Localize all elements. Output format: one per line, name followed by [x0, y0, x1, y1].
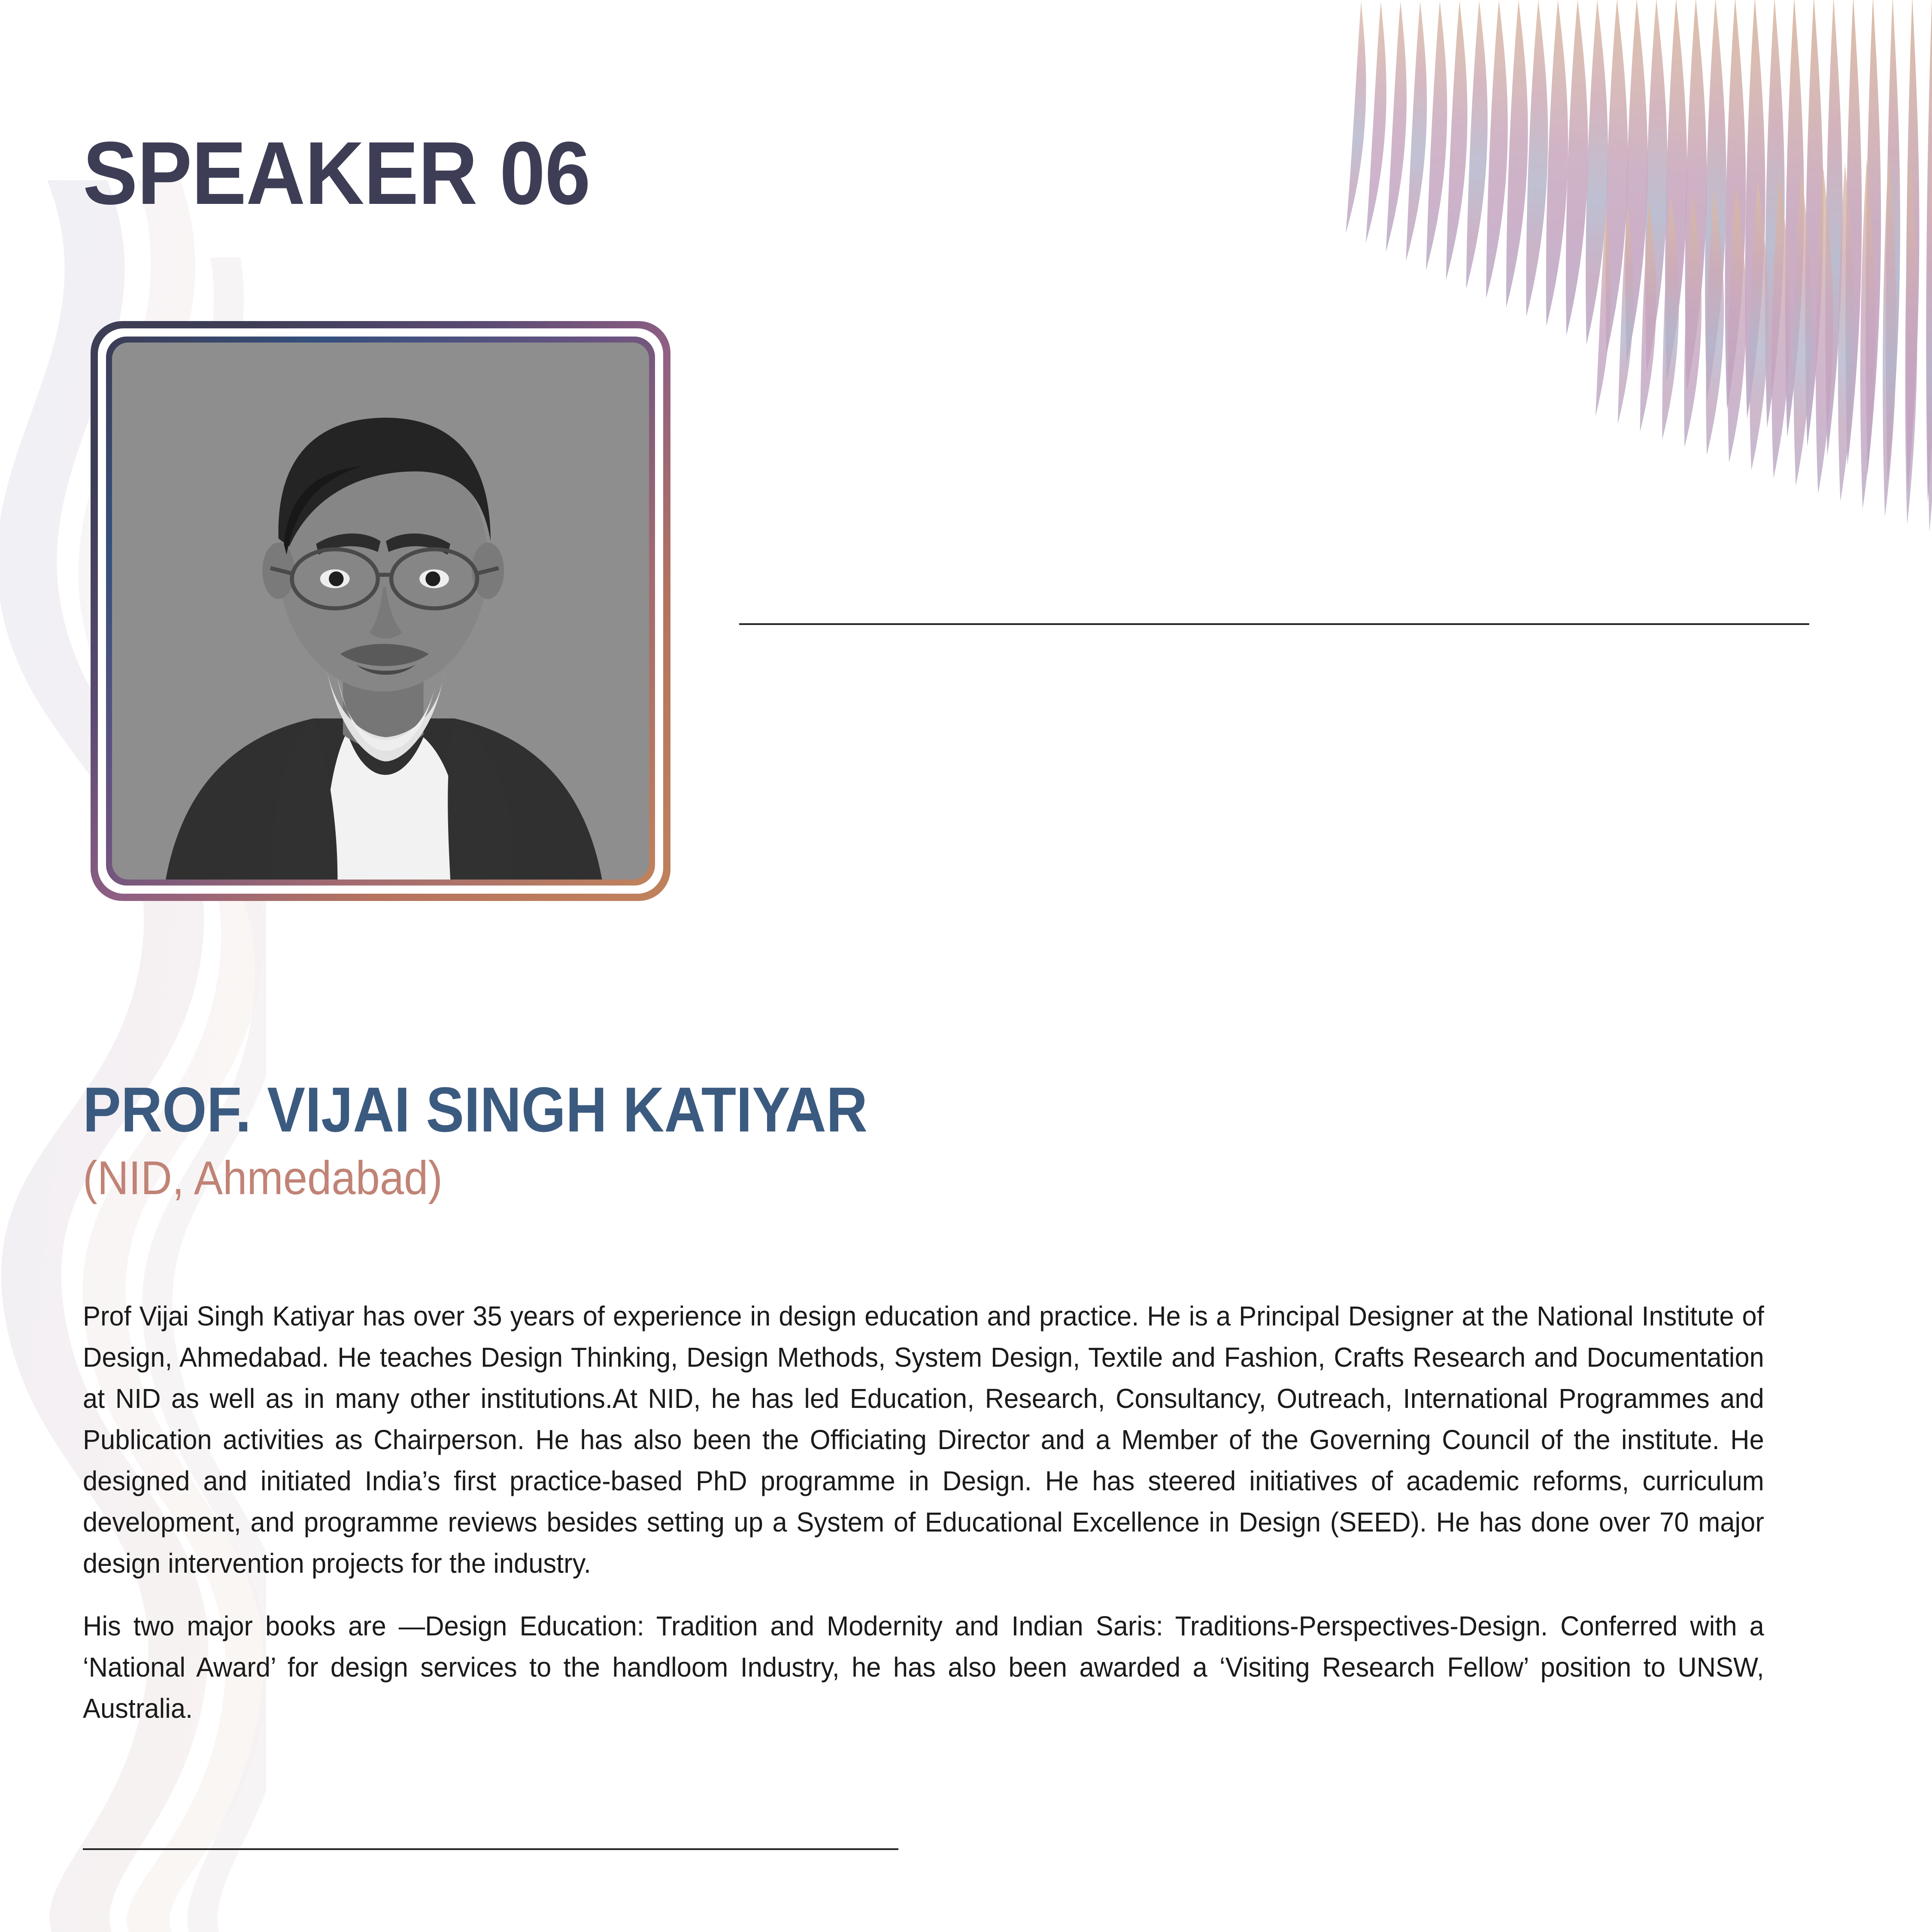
- photo-frame-inner-border: [106, 337, 655, 886]
- speaker-biography: Prof Vijai Singh Katiyar has over 35 yea…: [83, 1295, 1764, 1729]
- divider-rule-top: [739, 623, 1809, 625]
- speaker-name: PROF. VIJAI SINGH KATIYAR: [83, 1078, 867, 1142]
- divider-rule-bottom: [83, 1848, 898, 1850]
- speaker-affiliation: (NID, Ahmedabad): [83, 1155, 443, 1202]
- bio-paragraph-2: His two major books are —Design Educatio…: [83, 1605, 1764, 1729]
- photo-frame-inner-gap: [98, 328, 663, 894]
- bio-paragraph-1: Prof Vijai Singh Katiyar has over 35 yea…: [83, 1295, 1764, 1584]
- speaker-portrait-photo: [112, 343, 649, 880]
- page-title: SPEAKER 06: [83, 129, 590, 218]
- speaker-photo-frame: [91, 321, 670, 901]
